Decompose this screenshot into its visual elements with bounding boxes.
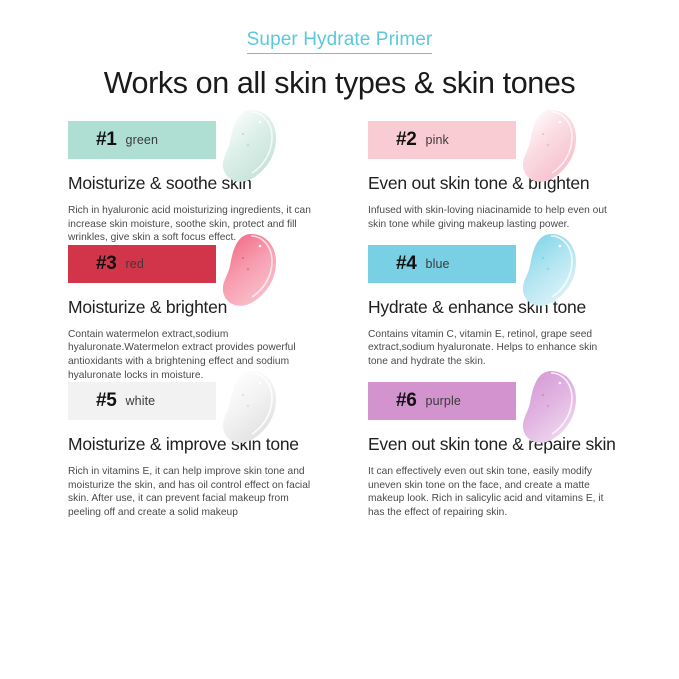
shade-badge-6[interactable]: #6 purple	[368, 382, 516, 420]
shade-name-3: red	[126, 257, 144, 271]
shade-number-3: #3	[96, 253, 117, 275]
card-body-5: Rich in vitamins E, it can help improve …	[68, 465, 316, 519]
badge-wrap-5: #5 white	[68, 382, 356, 427]
shade-number-1: #1	[96, 129, 117, 151]
shade-name-2: pink	[426, 133, 449, 147]
card-title-6: Even out skin tone & repaire skin	[368, 433, 644, 456]
shade-badge-3[interactable]: #3 red	[68, 245, 216, 283]
benefit-card-grid: #1 green	[0, 121, 679, 520]
shade-badge-2[interactable]: #2 pink	[368, 121, 516, 159]
header: Super Hydrate Primer Works on all skin t…	[0, 0, 679, 102]
shade-name-1: green	[126, 133, 158, 147]
badge-wrap-1: #1 green	[68, 121, 356, 166]
card-body-2: Infused with skin-loving niacinamide to …	[368, 204, 616, 231]
infographic-page: Super Hydrate Primer Works on all skin t…	[0, 0, 679, 679]
badge-wrap-6: #6 purple	[368, 382, 644, 427]
shade-name-5: white	[126, 394, 156, 408]
benefit-card-6: #6 purple	[356, 382, 644, 519]
card-title-1: Moisturize & soothe skin	[68, 172, 356, 195]
card-body-4: Contains vitamin C, vitamin E, retinol, …	[368, 328, 616, 369]
shade-number-2: #2	[396, 129, 417, 151]
benefit-card-2: #2 pink	[356, 121, 644, 245]
shade-badge-4[interactable]: #4 blue	[368, 245, 516, 283]
card-title-3: Moisturize & brighten	[68, 296, 356, 319]
card-title-5: Moisturize & improve skin tone	[68, 433, 356, 456]
card-body-3: Contain watermelon extract,sodium hyalur…	[68, 328, 316, 382]
card-title-2: Even out skin tone & brighten	[368, 172, 644, 195]
badge-wrap-4: #4 blue	[368, 245, 644, 290]
card-body-1: Rich in hyaluronic acid moisturizing ing…	[68, 204, 316, 245]
benefit-card-4: #4 blue	[356, 245, 644, 382]
page-headline: Works on all skin types & skin tones	[0, 64, 679, 102]
product-name-link[interactable]: Super Hydrate Primer	[247, 28, 433, 54]
shade-badge-1[interactable]: #1 green	[68, 121, 216, 159]
card-body-6: It can effectively even out skin tone, e…	[368, 465, 616, 519]
shade-badge-5[interactable]: #5 white	[68, 382, 216, 420]
shade-number-6: #6	[396, 390, 417, 412]
benefit-card-1: #1 green	[68, 121, 356, 245]
shade-number-4: #4	[396, 253, 417, 275]
shade-name-4: blue	[426, 257, 450, 271]
card-title-4: Hydrate & enhance skin tone	[368, 296, 644, 319]
benefit-card-5: #5 white	[68, 382, 356, 519]
shade-name-6: purple	[426, 394, 461, 408]
badge-wrap-3: #3 red	[68, 245, 356, 290]
shade-number-5: #5	[96, 390, 117, 412]
badge-wrap-2: #2 pink	[368, 121, 644, 166]
benefit-card-3: #3 red	[68, 245, 356, 382]
